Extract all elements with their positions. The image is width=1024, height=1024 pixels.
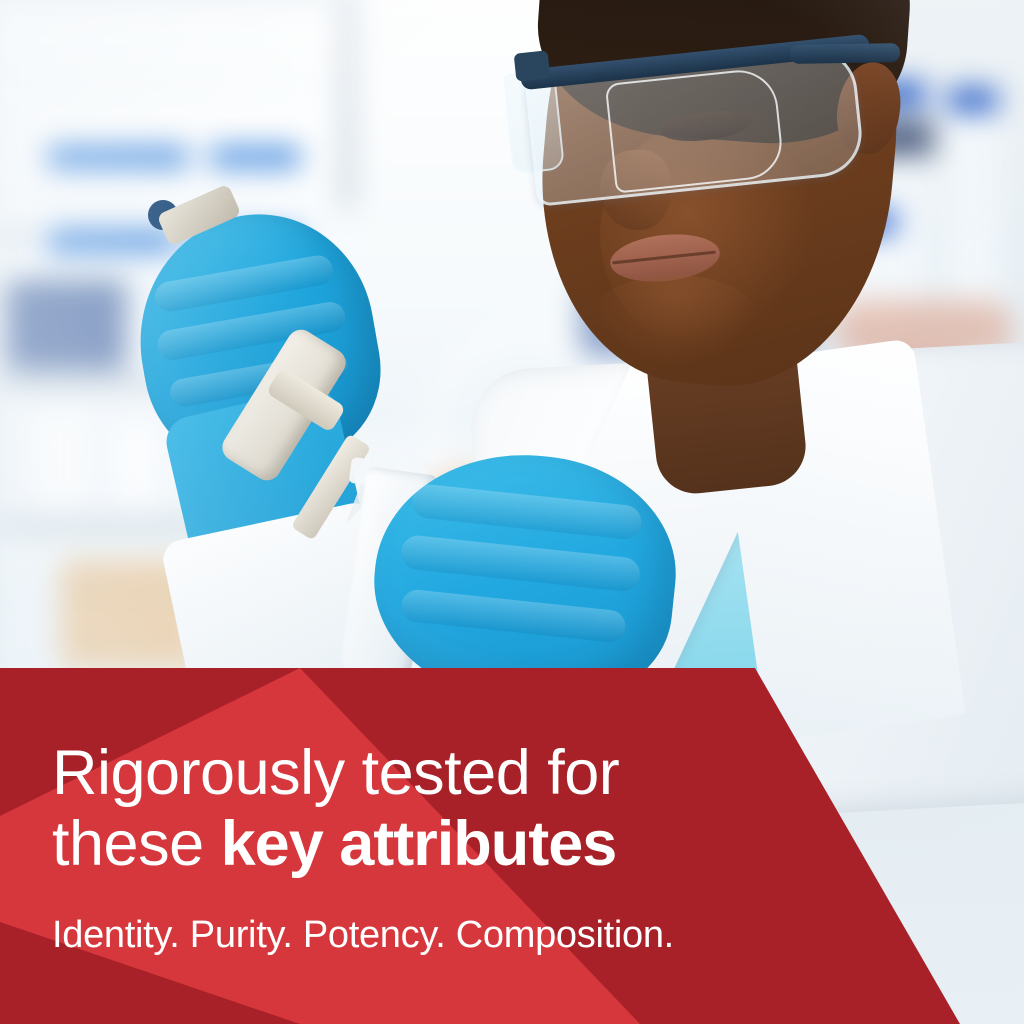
safety-goggles-temple — [790, 43, 900, 64]
red-banner: Rigorously tested for these key attribut… — [0, 668, 1024, 1024]
headline: Rigorously tested for these key attribut… — [52, 668, 932, 876]
headline-line-2-bold: key attributes — [221, 809, 617, 879]
safety-goggles-lens-inner — [605, 66, 786, 193]
chin — [590, 275, 760, 365]
promotional-poster: Rigorously tested for these key attribut… — [0, 0, 1024, 1024]
subline: Identity. Purity. Potency. Composition. — [52, 876, 932, 957]
safety-goggles-hinge — [514, 50, 551, 81]
headline-line-1: Rigorously tested for — [52, 668, 932, 805]
banner-text-block: Rigorously tested for these key attribut… — [52, 668, 932, 957]
headline-line-2: these key attributes — [52, 805, 932, 876]
headline-line-2-light: these — [52, 809, 221, 879]
